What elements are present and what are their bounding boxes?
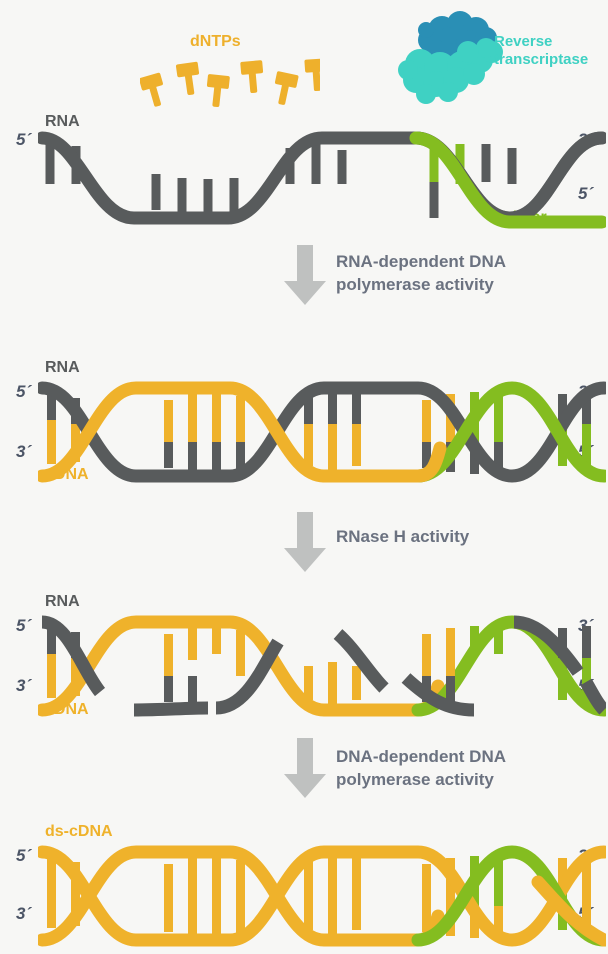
rna-degraded-cdna-duplex [38,612,606,724]
step-3-arrow-label: DNA-dependent DNA polymerase activity [336,746,506,792]
prime-5-left-step4: 5´ [16,846,31,866]
ds-cdna-duplex [38,842,606,954]
down-arrow-icon-2 [282,512,328,574]
reverse-transcriptase-label: Reverse transcriptase [494,33,588,69]
dntps-label: dNTPs [190,32,241,51]
step-1-arrow-block: RNA-dependent DNA polymerase activity [0,245,608,315]
step-3-arrow-block: DNA-dependent DNA polymerase activity [0,730,608,810]
down-arrow-icon-3 [282,738,328,800]
step-1-molecule: RNA 5´ 3´ 5´ Primer [0,108,608,236]
step-2-arrow-block: RNase H activity [0,512,608,582]
prime-3-left-step4: 3´ [16,904,31,924]
prime-5-left-step3: 5´ [16,616,31,636]
prime-3-left-step2: 3´ [16,442,31,462]
rna-cdna-duplex [38,378,606,490]
rna-label-step3: RNA [45,592,80,611]
step-3-molecule: RNA cDNA 5´ 3´ 3´ 5´ [0,588,608,728]
down-arrow-icon-1 [282,245,328,307]
reagents-row: dNTPs [0,0,608,120]
step-1-arrow-label: RNA-dependent DNA polymerase activity [336,251,506,297]
rna-strand-with-primer [38,126,606,236]
step-2-molecule: RNA cDNA 5´ 3´ 3´ 5´ [0,352,608,492]
dntps-group [140,55,320,115]
prime-5-left-step2: 5´ [16,382,31,402]
prime-3-left-step3: 3´ [16,676,31,696]
prime-5-left-step1: 5´ [16,130,31,150]
rna-label-step2: RNA [45,358,80,377]
step-4-molecule: ds-cDNA 5´ 3´ 3´ 5´ [0,816,608,936]
reverse-transcription-diagram: dNTPs [0,0,608,936]
step-2-arrow-label: RNase H activity [336,526,469,549]
ds-cdna-label: ds-cDNA [45,822,113,841]
